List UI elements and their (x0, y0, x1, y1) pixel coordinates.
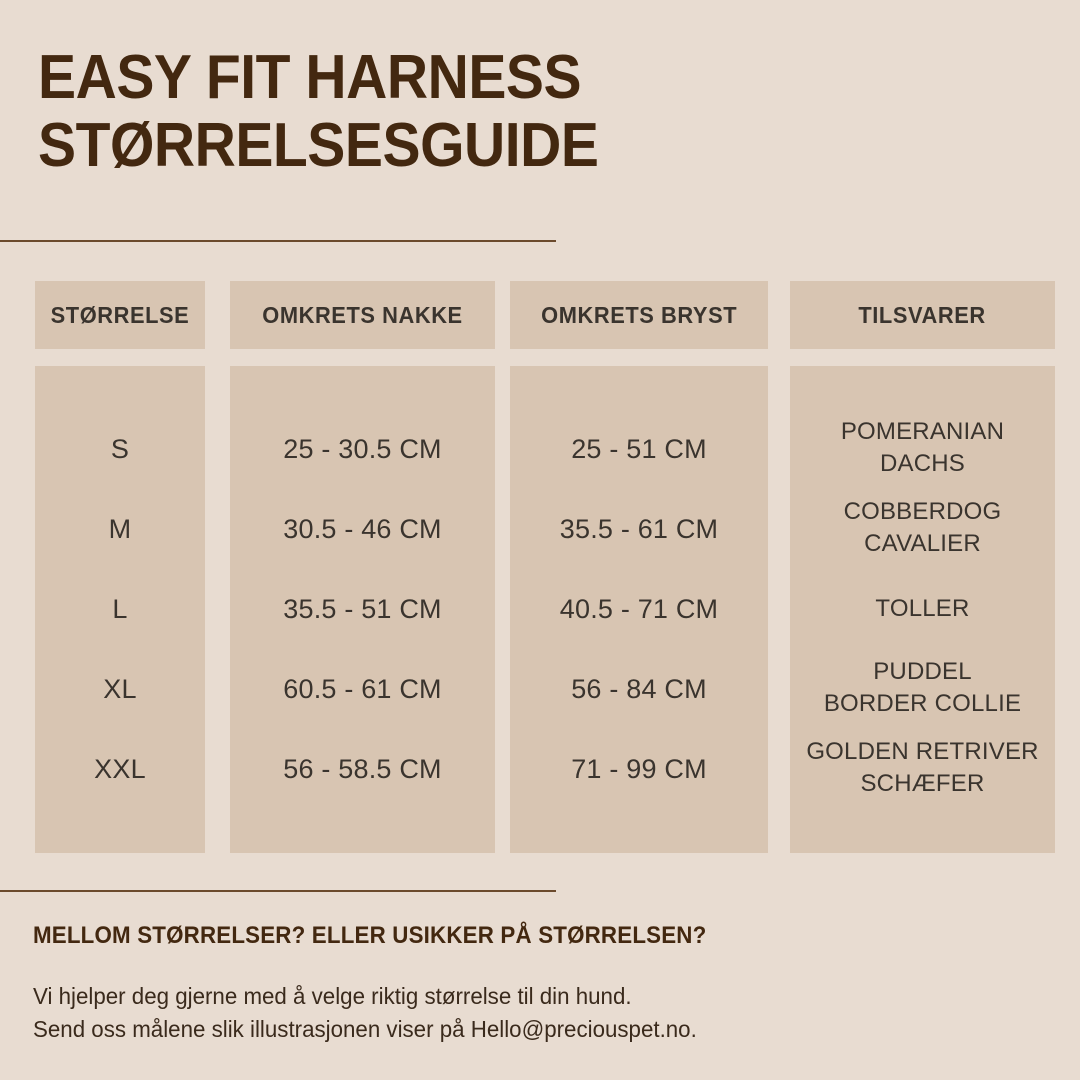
table-column-breeds-body: POMERANIAN DACHS COBBERDOG CAVALIER TOLL… (790, 366, 1055, 853)
breed-name: COBBERDOG (790, 496, 1055, 528)
page-title-line-2: STØRRELSESGUIDE (38, 112, 958, 180)
breed-name: BORDER COLLIE (790, 688, 1055, 720)
breed-name: DACHS (790, 448, 1055, 480)
footer-body: Vi hjelper deg gjerne med å velge riktig… (33, 980, 1003, 1046)
column-header-neck-label: OMKRETS NAKKE (262, 302, 462, 329)
table-cell-breeds: COBBERDOG CAVALIER (790, 496, 1055, 560)
footer-heading: MELLOM STØRRELSER? ELLER USIKKER PÅ STØR… (33, 922, 963, 950)
breed-name: POMERANIAN (790, 416, 1055, 448)
table-cell-size: XL (35, 672, 205, 706)
breed-name: SCHÆFER (790, 768, 1055, 800)
breed-name: PUDDEL (790, 656, 1055, 688)
footer-body-line-1: Vi hjelper deg gjerne med å velge riktig… (33, 980, 1003, 1013)
footer: MELLOM STØRRELSER? ELLER USIKKER PÅ STØR… (33, 922, 1033, 1046)
column-header-chest-label: OMKRETS BRYST (541, 302, 737, 329)
table-cell-chest: 35.5 - 61 CM (510, 512, 768, 546)
footer-body-line-2: Send oss målene slik illustrasjonen vise… (33, 1013, 1003, 1046)
table-cell-chest: 25 - 51 CM (510, 432, 768, 466)
table-cell-neck: 60.5 - 61 CM (230, 672, 495, 706)
column-header-breeds-label: TILSVARER (859, 302, 986, 329)
breed-name: GOLDEN RETRIVER (790, 736, 1055, 768)
column-header-size: STØRRELSE (35, 281, 205, 349)
table-cell-breeds: POMERANIAN DACHS (790, 416, 1055, 480)
table-cell-size: XXL (35, 752, 205, 786)
column-header-chest: OMKRETS BRYST (510, 281, 768, 349)
breed-name: TOLLER (790, 593, 1055, 625)
table-column-size-body: S M L XL XXL (35, 366, 205, 853)
size-guide-table: STØRRELSE S M L XL XXL OMKRETS NAKKE 25 … (0, 281, 1080, 853)
column-header-size-label: STØRRELSE (51, 302, 190, 329)
page-title-line-1: EASY FIT HARNESS (38, 44, 958, 112)
table-cell-size: L (35, 592, 205, 626)
table-cell-chest: 56 - 84 CM (510, 672, 768, 706)
page-title: EASY FIT HARNESS STØRRELSESGUIDE (38, 44, 1038, 180)
table-column-chest-body: 25 - 51 CM 35.5 - 61 CM 40.5 - 71 CM 56 … (510, 366, 768, 853)
table-cell-neck: 30.5 - 46 CM (230, 512, 495, 546)
table-cell-breeds: PUDDEL BORDER COLLIE (790, 656, 1055, 720)
divider-bottom (0, 890, 556, 892)
divider-top (0, 240, 556, 242)
breed-name: CAVALIER (790, 528, 1055, 560)
column-header-neck: OMKRETS NAKKE (230, 281, 495, 349)
table-cell-neck: 56 - 58.5 CM (230, 752, 495, 786)
table-cell-size: M (35, 512, 205, 546)
table-column-neck-body: 25 - 30.5 CM 30.5 - 46 CM 35.5 - 51 CM 6… (230, 366, 495, 853)
column-header-breeds: TILSVARER (790, 281, 1055, 349)
table-cell-size: S (35, 432, 205, 466)
table-cell-breeds: GOLDEN RETRIVER SCHÆFER (790, 736, 1055, 800)
table-cell-chest: 71 - 99 CM (510, 752, 768, 786)
table-cell-chest: 40.5 - 71 CM (510, 592, 768, 626)
table-cell-neck: 35.5 - 51 CM (230, 592, 495, 626)
table-cell-breeds: TOLLER (790, 593, 1055, 625)
table-cell-neck: 25 - 30.5 CM (230, 432, 495, 466)
